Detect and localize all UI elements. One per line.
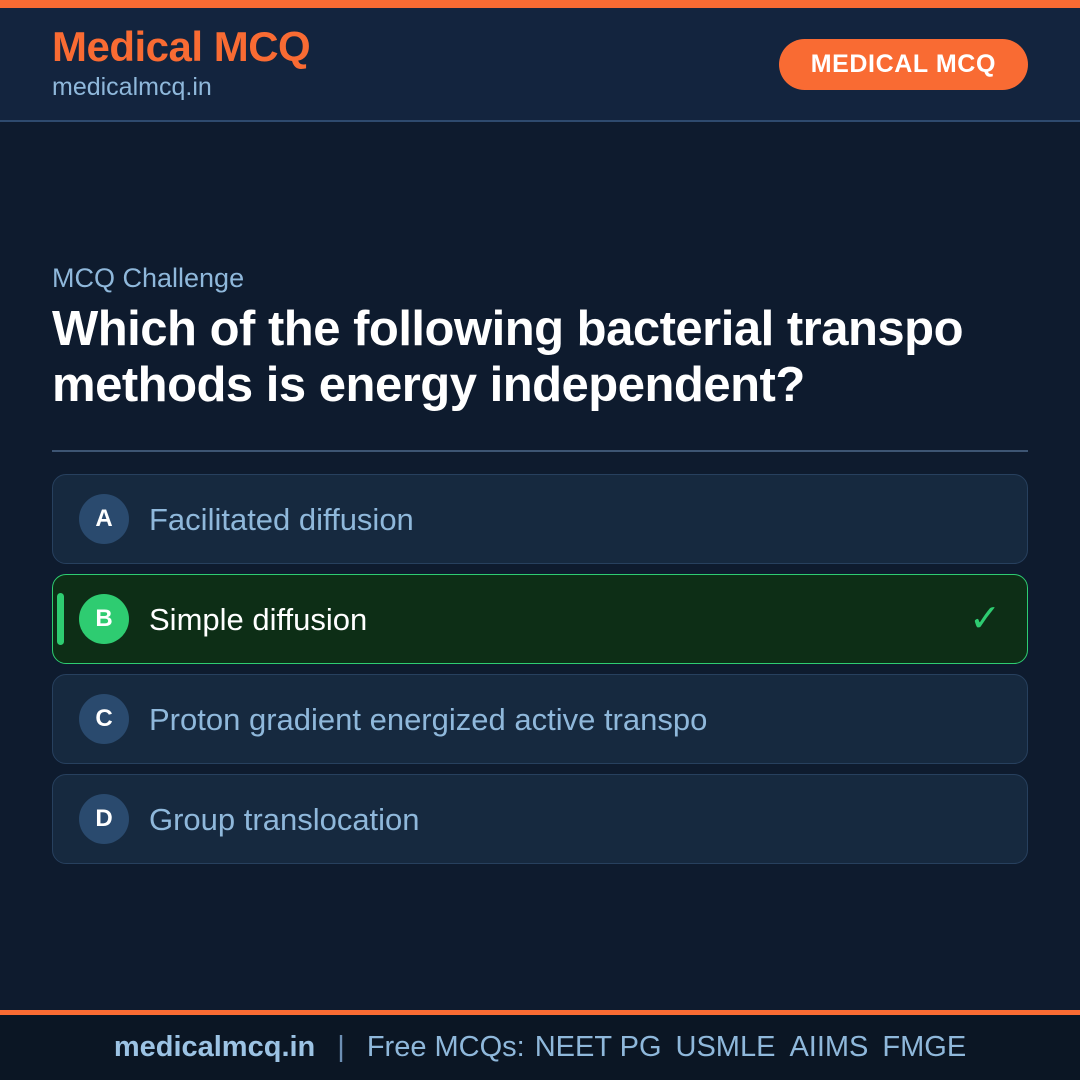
footer-bar: medicalmcq.in | Free MCQs: NEET PG USMLE…	[0, 1015, 1080, 1080]
option-c[interactable]: C Proton gradient energized active trans…	[52, 674, 1028, 764]
option-letter-badge: B	[79, 594, 129, 644]
brand-title: Medical MCQ	[52, 25, 310, 69]
header-bar: Medical MCQ medicalmcq.in MEDICAL MCQ	[0, 8, 1080, 122]
footer-site-link[interactable]: medicalmcq.in	[114, 1033, 315, 1062]
option-label: Facilitated diffusion	[149, 501, 1001, 538]
brand-url: medicalmcq.in	[52, 71, 310, 104]
check-icon: ✓	[969, 600, 1001, 638]
correct-accent-bar	[57, 593, 64, 645]
footer-exam-neet-pg: NEET PG	[535, 1033, 662, 1062]
footer-label: Free MCQs:	[367, 1033, 525, 1062]
footer-exam-aiims: AIIMS	[789, 1033, 868, 1062]
header-badge: MEDICAL MCQ	[779, 39, 1028, 90]
footer-exam-usmle: USMLE	[676, 1033, 776, 1062]
options-list: A Facilitated diffusion ✓ B Simple diffu…	[52, 474, 1028, 864]
option-d[interactable]: D Group translocation ✓	[52, 774, 1028, 864]
main-content: MCQ Challenge Which of the following bac…	[0, 122, 1080, 1010]
brand-block: Medical MCQ medicalmcq.in	[52, 25, 310, 104]
question-block: MCQ Challenge Which of the following bac…	[52, 122, 1028, 414]
footer-content: medicalmcq.in | Free MCQs: NEET PG USMLE…	[114, 1033, 966, 1062]
option-letter-badge: C	[79, 694, 129, 744]
option-a[interactable]: A Facilitated diffusion ✓	[52, 474, 1028, 564]
footer-exam-fmge: FMGE	[882, 1033, 966, 1062]
question-eyebrow: MCQ Challenge	[52, 262, 1028, 294]
option-letter-badge: D	[79, 794, 129, 844]
question-divider	[52, 450, 1028, 452]
option-label: Simple diffusion	[149, 601, 953, 638]
top-accent-stripe	[0, 0, 1080, 8]
option-b[interactable]: B Simple diffusion ✓	[52, 574, 1028, 664]
footer-separator: |	[337, 1033, 345, 1062]
mcq-card: Medical MCQ medicalmcq.in MEDICAL MCQ MC…	[0, 0, 1080, 1080]
question-text: Which of the following bacterial transpo…	[52, 302, 1028, 414]
option-label: Proton gradient energized active transpo	[149, 701, 1001, 738]
option-letter-badge: A	[79, 494, 129, 544]
option-label: Group translocation	[149, 801, 1001, 838]
